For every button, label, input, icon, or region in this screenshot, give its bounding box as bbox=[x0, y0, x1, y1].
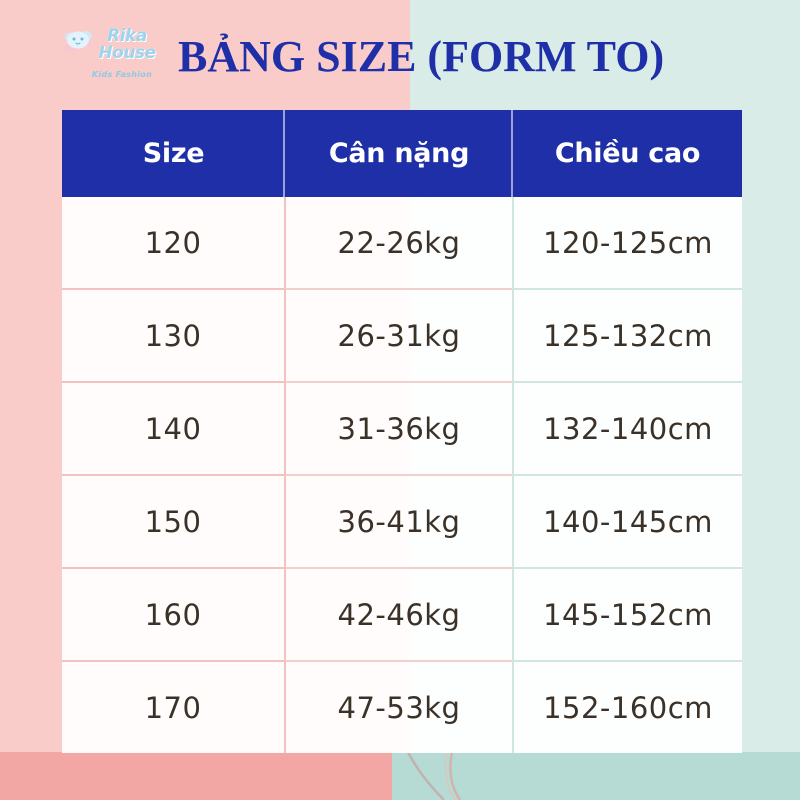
table-row: 170 47-53kg 152-160cm bbox=[62, 661, 742, 753]
brand-logo[interactable]: Rika House Kids Fashion bbox=[62, 26, 168, 88]
table-row: 120 22-26kg 120-125cm bbox=[62, 197, 742, 289]
cell-size: 150 bbox=[62, 475, 285, 568]
column-header-height: Chiều cao bbox=[513, 110, 742, 197]
brand-name-line2: House bbox=[86, 45, 168, 62]
cell-size: 140 bbox=[62, 382, 285, 475]
cell-size: 170 bbox=[62, 661, 285, 753]
cell-weight: 31-36kg bbox=[285, 382, 513, 475]
cell-size: 160 bbox=[62, 568, 285, 661]
table-body: 120 22-26kg 120-125cm 130 26-31kg 125-13… bbox=[62, 197, 742, 753]
table-header: Size Cân nặng Chiều cao bbox=[62, 110, 742, 197]
cell-height: 120-125cm bbox=[513, 197, 742, 289]
size-chart-page: Rika House Kids Fashion BẢNG SIZE (FORM … bbox=[0, 0, 800, 800]
cell-height: 145-152cm bbox=[513, 568, 742, 661]
cell-weight: 47-53kg bbox=[285, 661, 513, 753]
column-header-weight: Cân nặng bbox=[285, 110, 513, 197]
brand-tagline: Kids Fashion bbox=[76, 70, 168, 79]
cell-height: 132-140cm bbox=[513, 382, 742, 475]
table-row: 160 42-46kg 145-152cm bbox=[62, 568, 742, 661]
table-row: 150 36-41kg 140-145cm bbox=[62, 475, 742, 568]
cell-size: 130 bbox=[62, 289, 285, 382]
table-row: 140 31-36kg 132-140cm bbox=[62, 382, 742, 475]
cell-height: 152-160cm bbox=[513, 661, 742, 753]
page-title: BẢNG SIZE (FORM TO) bbox=[178, 28, 698, 86]
table-row: 130 26-31kg 125-132cm bbox=[62, 289, 742, 382]
cell-weight: 36-41kg bbox=[285, 475, 513, 568]
cell-weight: 22-26kg bbox=[285, 197, 513, 289]
brand-wordmark: Rika House bbox=[86, 28, 168, 62]
page-header: Rika House Kids Fashion BẢNG SIZE (FORM … bbox=[0, 0, 800, 110]
cell-weight: 26-31kg bbox=[285, 289, 513, 382]
column-header-size: Size bbox=[62, 110, 285, 197]
background-bottom-pink bbox=[0, 752, 392, 800]
size-chart-table: Size Cân nặng Chiều cao 120 22-26kg 120-… bbox=[62, 110, 742, 753]
cell-weight: 42-46kg bbox=[285, 568, 513, 661]
background-bottom-mint bbox=[392, 752, 800, 800]
cell-height: 125-132cm bbox=[513, 289, 742, 382]
table-header-row: Size Cân nặng Chiều cao bbox=[62, 110, 742, 197]
cell-size: 120 bbox=[62, 197, 285, 289]
cell-height: 140-145cm bbox=[513, 475, 742, 568]
